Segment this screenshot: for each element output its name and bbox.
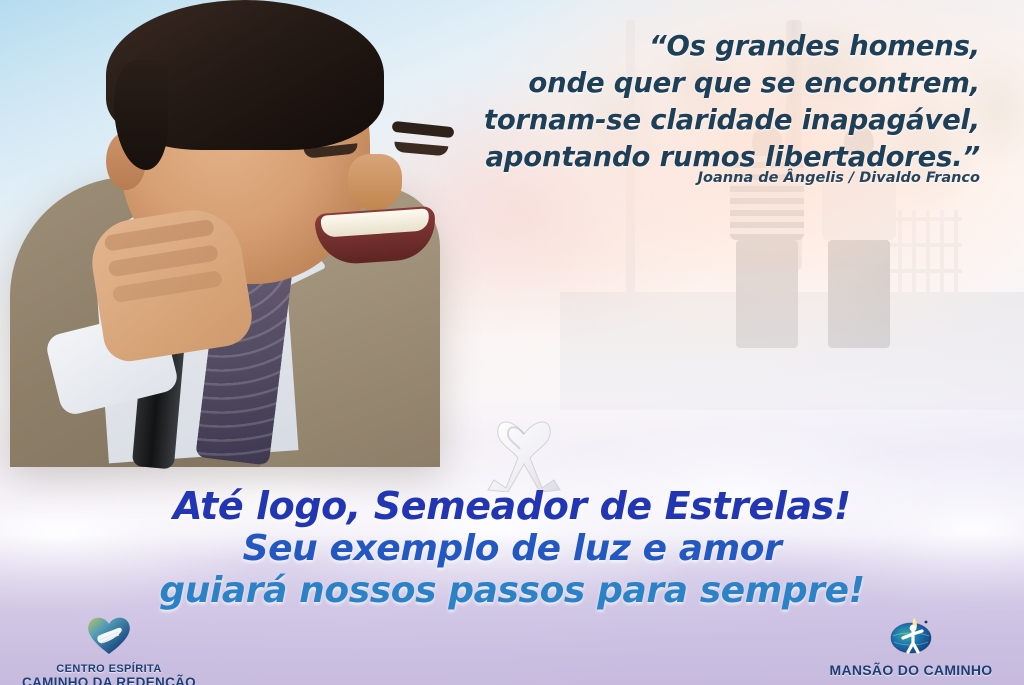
white-ribbon-icon xyxy=(486,408,562,492)
logo-ce-line-2: CAMINHO DA REDENÇÃO xyxy=(14,675,204,685)
globe-with-figure-icon xyxy=(806,612,1016,660)
headline-line-1: Até logo, Semeador de Estrelas! xyxy=(0,486,1024,527)
quote-text: “Os grandes homens, onde quer que se enc… xyxy=(420,28,980,175)
teeth xyxy=(320,208,429,237)
quote-line-1: “Os grandes homens, xyxy=(420,28,980,65)
logo-mansao-label: MANSÃO DO CAMINHO xyxy=(806,663,1016,679)
memorial-poster: “Os grandes homens, onde quer que se enc… xyxy=(0,0,1024,685)
hair xyxy=(106,0,384,150)
quote-line-3: tornam-se claridade inapagável, xyxy=(420,102,980,139)
quote-line-2: onde quer que se encontrem, xyxy=(420,65,980,102)
logo-centro-espirita: CENTRO ESPÍRITA CAMINHO DA REDENÇÃO xyxy=(14,616,204,685)
headline-line-3: guiará nossos passos para sempre! xyxy=(0,572,1024,611)
quote-attribution: Joanna de Ângelis / Divaldo Franco xyxy=(420,170,980,186)
logo-mc-line-1: MANSÃO DO CAMINHO xyxy=(806,663,1016,679)
logo-centro-espirita-label: CENTRO ESPÍRITA CAMINHO DA REDENÇÃO xyxy=(14,663,204,685)
nose xyxy=(348,154,402,210)
headline-text: Até logo, Semeador de Estrelas! Seu exem… xyxy=(0,486,1024,611)
headline-line-2: Seu exemplo de luz e amor xyxy=(0,530,1024,569)
logo-mansao-do-caminho: MANSÃO DO CAMINHO xyxy=(806,612,1016,679)
heart-with-hands-icon xyxy=(14,616,204,660)
logo-ce-line-1: CENTRO ESPÍRITA xyxy=(14,663,204,675)
hand-on-chin xyxy=(86,203,256,365)
